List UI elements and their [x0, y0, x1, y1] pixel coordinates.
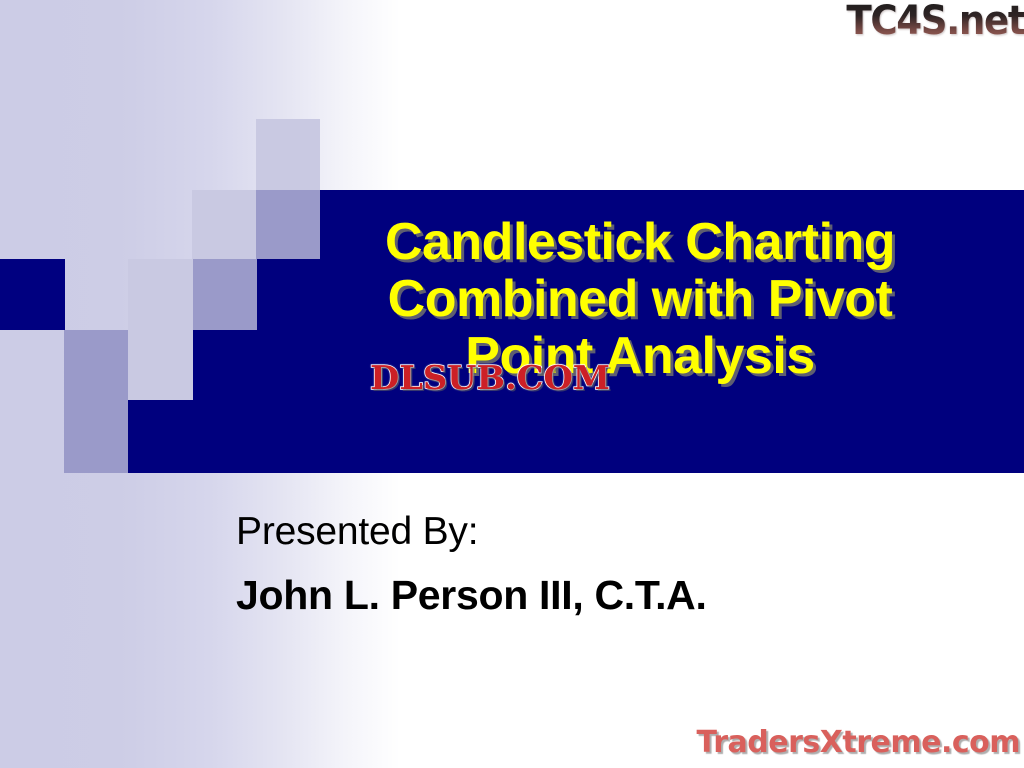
watermark-tc4s: TC4S.net [846, 0, 1024, 44]
slide-subtitle: Presented By: John L. Person III, C.T.A. [236, 505, 707, 631]
presentation-slide: Candlestick Charting Combined with Pivot… [0, 0, 1024, 768]
presenter-name: John L. Person III, C.T.A. [236, 559, 707, 631]
title-line-1: Candlestick Charting [300, 214, 980, 271]
watermark-dlsub: DLSUB.COM [370, 358, 610, 397]
title-line-2: Combined with Pivot [300, 271, 980, 328]
deco-square-navy-1 [0, 259, 65, 330]
subtitle-label: Presented By: [236, 505, 707, 559]
deco-square-medium-2 [193, 259, 257, 330]
title-band-row-4 [128, 400, 1024, 473]
deco-square-light-2 [192, 190, 256, 259]
deco-square-medium-4 [64, 400, 128, 473]
deco-square-light-4 [128, 330, 193, 400]
deco-square-medium-3 [64, 330, 128, 400]
deco-square-light-1 [256, 119, 320, 190]
deco-square-light-3 [128, 259, 193, 330]
watermark-tradersxtreme: TradersXtreme.com [697, 725, 1020, 760]
